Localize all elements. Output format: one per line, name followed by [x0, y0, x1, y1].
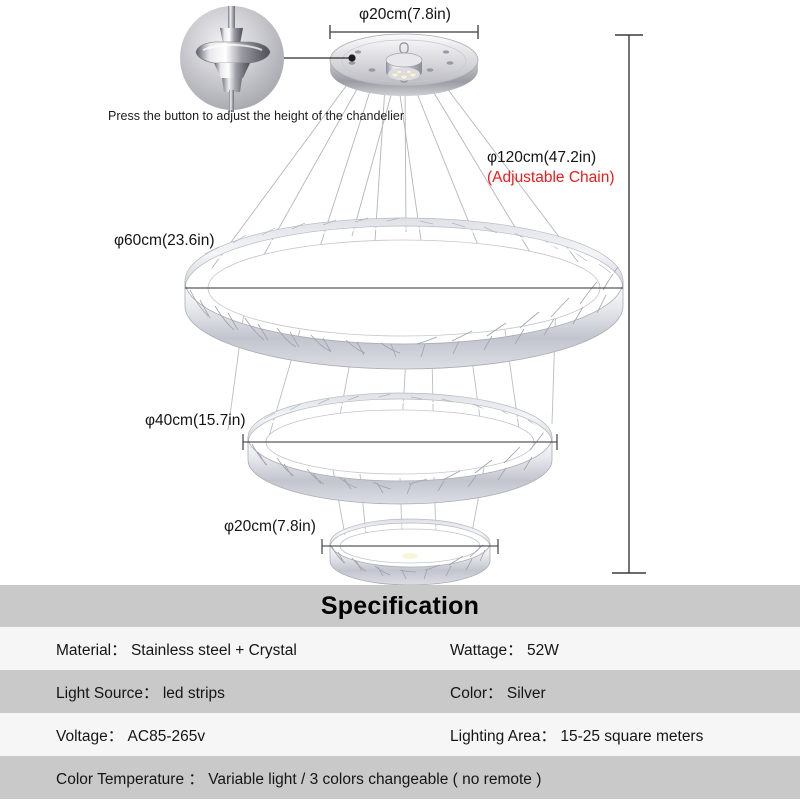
crystal-ring-small — [322, 519, 498, 585]
spec-key-material: Material — [56, 642, 111, 659]
spec-value-lighting-area: 15-25 square meters — [560, 728, 703, 745]
cable-adjuster-callout-text: Press the button to adjust the height of… — [108, 108, 304, 125]
spec-cell-light-source: Light Source： led strips — [56, 681, 225, 703]
spec-value-color-temperature: Variable light / 3 colors changeable ( n… — [208, 771, 541, 788]
spec-row-material-wattage: Material： Stainless steel + Crystal Watt… — [0, 627, 800, 670]
middle-ring-dimension-label: φ40cm(15.7in) — [145, 411, 246, 430]
spec-cell-voltage: Voltage： AC85-265v — [56, 724, 205, 746]
specification-title: Specification — [321, 592, 479, 621]
spec-value-material: Stainless steel + Crystal — [131, 642, 297, 659]
spec-row-color-temperature: Color Temperature ： Variable light / 3 c… — [0, 756, 800, 799]
chandelier-diagram — [0, 0, 800, 585]
spec-cell-color: Color： Silver — [450, 681, 546, 703]
spec-sep: ： — [111, 642, 127, 659]
chain-adjustable-note: (Adjustable Chain) — [487, 168, 615, 187]
spec-sep: ： — [487, 685, 503, 702]
ceiling-canopy — [330, 34, 478, 96]
spec-sep: ： — [143, 685, 159, 702]
crystal-ring-large — [185, 218, 623, 369]
specification-section: Specification Material： Stainless steel … — [0, 585, 800, 800]
canopy-dimension-label: φ20cm(7.8in) — [330, 5, 480, 24]
spec-key-color-temperature: Color Temperature — [56, 771, 184, 788]
spec-key-light-source: Light Source — [56, 685, 143, 702]
chain-dimension-value: φ120cm(47.2in) — [487, 149, 596, 166]
chain-dimension-label: φ120cm(47.2in) (Adjustable Chain) — [487, 148, 615, 188]
spec-key-color: Color — [450, 685, 487, 702]
small-ring-dimension-label: φ20cm(7.8in) — [224, 517, 316, 536]
spec-value-color: Silver — [507, 685, 546, 702]
spec-key-voltage: Voltage — [56, 728, 108, 745]
crystal-ring-middle — [243, 393, 557, 504]
spec-sep: ： — [541, 728, 557, 745]
spec-sep: ： — [108, 728, 124, 745]
spec-cell-lighting-area: Lighting Area： 15-25 square meters — [450, 724, 703, 746]
spec-sep: ： — [507, 642, 523, 659]
large-ring-dimension-label: φ60cm(23.6in) — [114, 231, 215, 250]
spec-key-lighting-area: Lighting Area — [450, 728, 541, 745]
spec-cell-color-temperature: Color Temperature ： Variable light / 3 c… — [56, 767, 541, 789]
spec-value-wattage: 52W — [527, 642, 559, 659]
spec-value-voltage: AC85-265v — [128, 728, 206, 745]
spec-cell-wattage: Wattage： 52W — [450, 638, 559, 660]
product-illustration: φ20cm(7.8in) φ120cm(47.2in) (Adjustable … — [0, 0, 800, 585]
cable-adjuster-detail — [180, 6, 284, 112]
spec-value-light-source: led strips — [163, 685, 225, 702]
specification-header: Specification — [0, 585, 800, 627]
spec-cell-material: Material： Stainless steel + Crystal — [56, 638, 297, 660]
spec-row-lightsource-color: Light Source： led strips Color： Silver — [0, 670, 800, 713]
spec-key-wattage: Wattage — [450, 642, 507, 659]
spec-sep: ： — [188, 771, 204, 788]
spec-row-voltage-lightingarea: Voltage： AC85-265v Lighting Area： 15-25 … — [0, 713, 800, 756]
canopy-led-hub — [386, 53, 422, 81]
